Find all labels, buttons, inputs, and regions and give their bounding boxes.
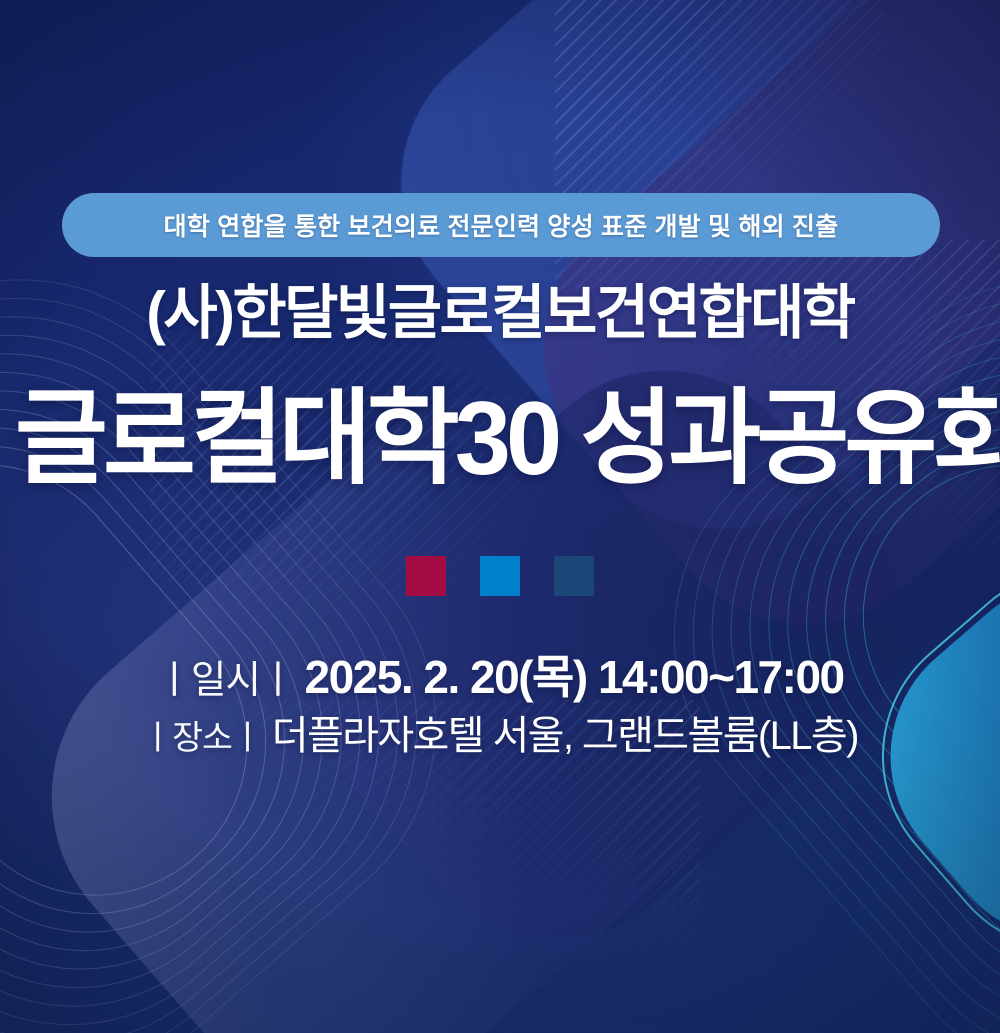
event-date-row: ㅣ일시ㅣ2025. 2. 20(목) 14:00~17:00 (0, 654, 1000, 701)
tagline-text: 대학 연합을 통한 보건의료 전문인력 양성 표준 개발 및 해외 진출 (164, 207, 839, 243)
event-place-value: 더플라자호텔 서울, 그랜드볼룸(LL층) (272, 714, 858, 758)
tagline-badge: 대학 연합을 통한 보건의료 전문인력 양성 표준 개발 및 해외 진출 (62, 193, 940, 257)
organization-title: (사)한달빛글로컬보건연합대학 (0, 283, 1000, 345)
square-crimson (406, 556, 446, 596)
event-place-label: ㅣ장소ㅣ (142, 720, 262, 757)
square-bright-blue (480, 556, 520, 596)
event-date-label: ㅣ일시ㅣ (156, 659, 294, 702)
event-place-row: ㅣ장소ㅣ더플라자호텔 서울, 그랜드볼룸(LL층) (0, 716, 1000, 756)
event-details: ㅣ일시ㅣ2025. 2. 20(목) 14:00~17:00 ㅣ장소ㅣ더플라자호… (0, 654, 1000, 756)
page-title: 글로컬대학30 성과공유회 (15, 387, 985, 491)
event-poster: 대학 연합을 통한 보건의료 전문인력 양성 표준 개발 및 해외 진출 (사)… (0, 0, 1000, 1033)
event-date-value: 2025. 2. 20(목) 14:00~17:00 (305, 651, 844, 703)
poster-content: 대학 연합을 통한 보건의료 전문인력 양성 표준 개발 및 해외 진출 (사)… (0, 0, 1000, 1033)
square-steel-blue (554, 556, 594, 596)
accent-squares (0, 556, 1000, 596)
